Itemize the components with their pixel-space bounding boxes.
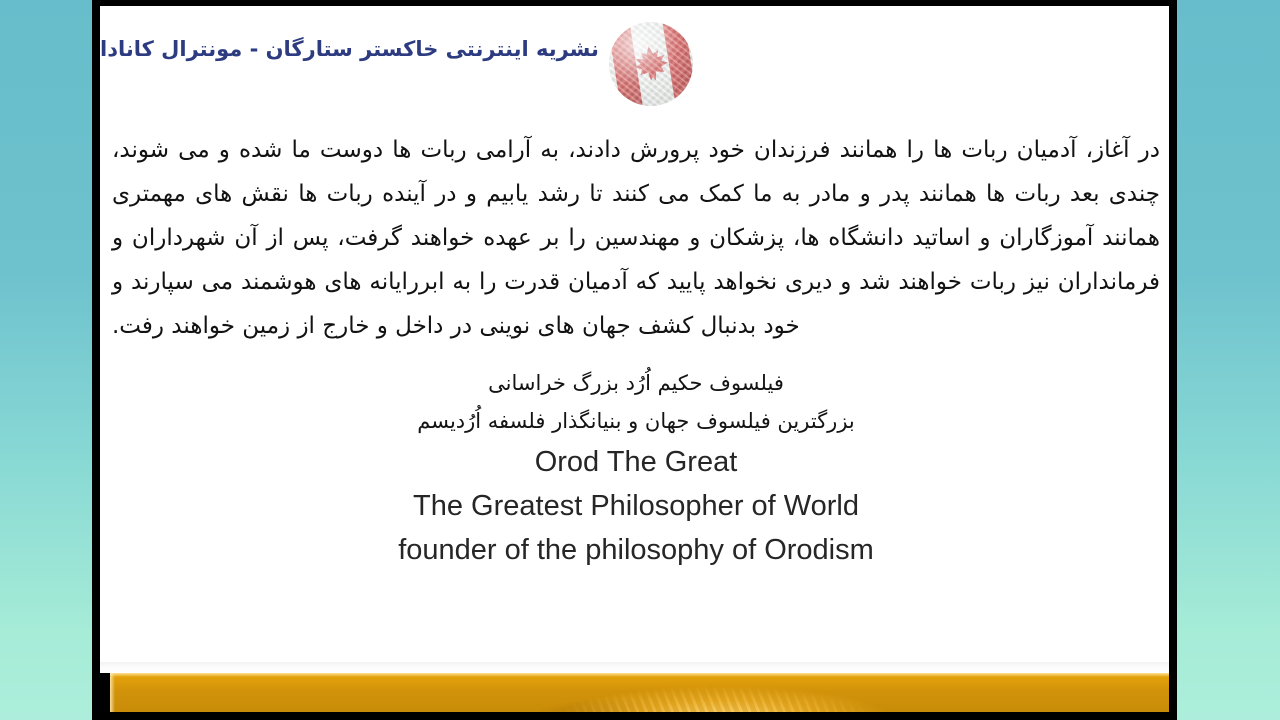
author-founder-en: founder of the philosophy of Orodism bbox=[112, 528, 1160, 572]
sunflower-petal-texture bbox=[110, 673, 1169, 712]
author-subtitle-fa: بزرگترین فیلسوف جهان و بنیانگذار فلسفه ا… bbox=[112, 402, 1160, 440]
attribution-block: فیلسوف حکیم اُرُد بزرگ خراسانی بزرگترین … bbox=[112, 364, 1160, 572]
author-subtitle-en: The Greatest Philosopher of World bbox=[112, 484, 1160, 528]
slide-content: در آغاز، آدمیان ربات ها را همانند فرزندا… bbox=[112, 128, 1160, 572]
page-title: نشریه اینترنتی خاکستر ستارگان - مونترال … bbox=[100, 22, 599, 63]
slide-bottom-edge bbox=[92, 712, 1177, 720]
article-paragraph: در آغاز، آدمیان ربات ها را همانند فرزندا… bbox=[112, 128, 1160, 348]
flag-sheen bbox=[609, 22, 693, 106]
canada-flag-circle-logo bbox=[609, 22, 693, 106]
author-name-en: Orod The Great bbox=[112, 440, 1160, 484]
band-left-highlight bbox=[110, 673, 115, 712]
sunflower-gold-band bbox=[110, 673, 1169, 712]
author-name-fa: فیلسوف حکیم اُرُد بزرگ خراسانی bbox=[112, 364, 1160, 402]
card-bottom-seam bbox=[100, 662, 1169, 673]
slide-header: نشریه اینترنتی خاکستر ستارگان - مونترال … bbox=[100, 22, 1169, 118]
band-top-highlight bbox=[110, 673, 1169, 677]
slide-page: نشریه اینترنتی خاکستر ستارگان - مونترال … bbox=[0, 0, 1280, 720]
